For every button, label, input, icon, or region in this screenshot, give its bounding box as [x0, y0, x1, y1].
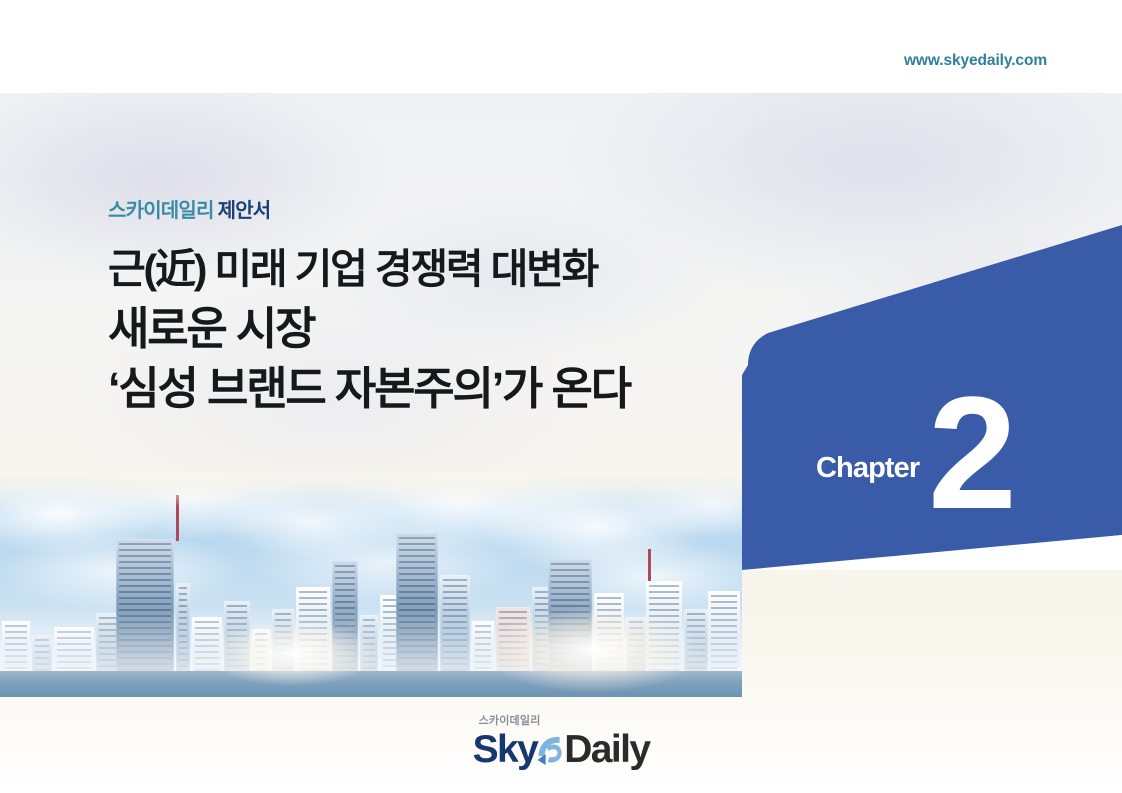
logo-korean-name: 스카이데일리 [473, 712, 650, 728]
logo-sky-text: Sky [473, 729, 538, 771]
top-white-band: www.skyedaily.com [0, 0, 1122, 93]
skydaily-logo: 스카이데일리 Sky Daily [473, 712, 650, 771]
title-block: 스카이데일리제안서 근(近) 미래 기업 경쟁력 대변화 새로운 시장 ‘심성 … [108, 198, 808, 418]
slide-canvas: Chapter 2 www.skyedaily.com 스카이데일리제안서 근(… [0, 0, 1122, 793]
chapter-label: Chapter [816, 452, 919, 485]
chapter-number: 2 [928, 378, 1013, 528]
eyebrow: 스카이데일리제안서 [108, 198, 808, 224]
lens-flare-left [172, 567, 412, 687]
lens-flare-right [452, 557, 742, 697]
headline-line-1: 근(近) 미래 기업 경쟁력 대변화 [108, 240, 808, 298]
photo-top-fade [0, 473, 742, 507]
logo-wordmark: Sky Daily [473, 729, 650, 771]
e-swoosh-icon [535, 734, 563, 766]
headline-line-2: 새로운 시장 [108, 300, 808, 358]
eyebrow-brand: 스카이데일리 [108, 200, 214, 222]
site-url[interactable]: www.skyedaily.com [904, 52, 1047, 70]
logo-daily-text: Daily [564, 729, 649, 771]
headline-line-3: ‘심성 브랜드 자본주의’가 온다 [108, 360, 808, 418]
city-skyline-photo [0, 473, 742, 697]
eyebrow-kind: 제안서 [218, 200, 271, 222]
